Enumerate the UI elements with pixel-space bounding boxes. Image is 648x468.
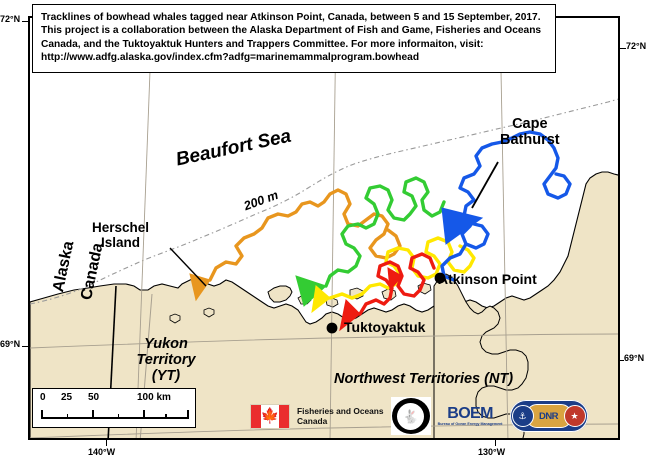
dfo-logo-text: Fisheries and Oceans Canada — [297, 406, 384, 426]
dnr-seal-icon: ⚓ DNR ★ — [510, 400, 588, 432]
label-tuktoyaktuk: Tuktoyaktuk — [344, 320, 425, 336]
map-frame: Beaufort Sea 200 m Cape Bathurst Hersche… — [28, 16, 620, 440]
axis-tick-bottom-left — [106, 440, 107, 446]
caption-text: Tracklines of bowhead whales tagged near… — [41, 11, 547, 65]
boem-title: BOEM — [447, 406, 493, 422]
scale-bar-labels: 0 25 50 100 km — [33, 392, 195, 408]
axis-label-right-top: 72°N — [626, 41, 646, 51]
scale-tick-label-0: 0 — [40, 392, 46, 403]
axis-label-left-bottom: 69°N — [0, 339, 20, 349]
axis-tick-bottom-right — [495, 440, 496, 446]
scale-tick-label-25: 25 — [61, 392, 72, 403]
logo-strip: 🍁 Fisheries and Oceans Canada 🐇 BOEM Bur… — [250, 396, 588, 436]
label-yukon-territory: Yukon Territory (YT) — [114, 336, 218, 385]
scale-tick-label-100: 100 km — [137, 392, 171, 403]
label-northwest-territories: Northwest Territories (NT) — [334, 371, 513, 387]
label-atkinson-point: Atkinson Point — [438, 272, 537, 288]
canada-flag-icon: 🍁 — [250, 404, 290, 429]
caption-box: Tracklines of bowhead whales tagged near… — [32, 4, 556, 73]
boem-logo: BOEM Bureau of Ocean Energy Management — [438, 406, 503, 427]
adfg-seal-icon: 🐇 — [392, 398, 430, 434]
axis-label-bottom-left: 140°W — [88, 447, 115, 457]
scale-bar: 0 25 50 100 km — [32, 388, 196, 428]
scale-bar-ruler — [41, 410, 187, 422]
axis-label-left-top: 72°N — [0, 14, 20, 24]
scale-tick-label-50: 50 — [88, 392, 99, 403]
map-figure: 140°W 130°W 140°W 130°W 72°N 69°N 72°N 6… — [0, 0, 648, 468]
tuktoyaktuk-marker[interactable] — [327, 323, 338, 334]
boem-subtitle: Bureau of Ocean Energy Management — [438, 423, 503, 427]
axis-label-bottom-right: 130°W — [478, 447, 505, 457]
axis-tick-right-top — [620, 48, 626, 49]
axis-label-right-bottom: 69°N — [624, 353, 644, 363]
adfg-seal-wrapper: 🐇 — [391, 397, 431, 435]
label-cape-bathurst: Cape Bathurst — [500, 116, 560, 148]
